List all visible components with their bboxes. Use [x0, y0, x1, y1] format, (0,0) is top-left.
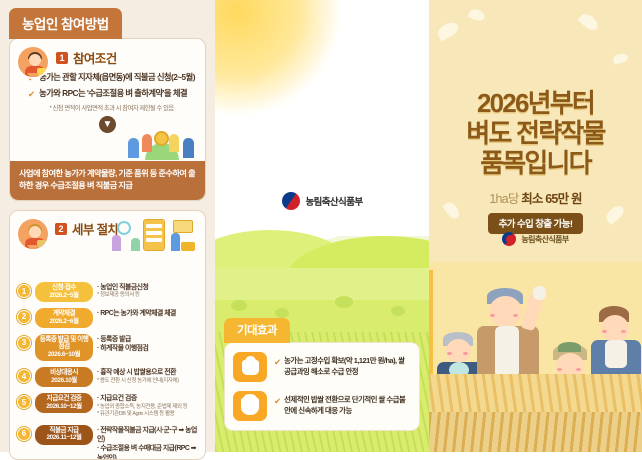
step-description: · 전략작물직불금 지급(시·군·구 ➡ 농업인)· 수급조절용 벼 수매대금 …	[97, 425, 198, 460]
rice-sack-icon	[233, 391, 267, 421]
bullet-text: 농가와 RPC는 '수급조절용 벼 출하계약'을 체결	[39, 88, 187, 99]
check-icon: ✔	[28, 89, 35, 100]
step-description-line: · 하계작물 이행점검	[97, 344, 198, 353]
procedure-step-list: 1신청·접수2026.2~5월· 농업인 직불금신청* 정보제공 동의서 등2계…	[17, 282, 198, 460]
money-bag-icon	[233, 352, 267, 382]
procedure-step-row: 2계약체결2026.2~6월· RPC는 농가와 계약체결 체결	[17, 308, 198, 328]
effect-text: 선제적인 밥쌀 전환으로 단기적인 쌀 수급불안에 신속하게 대응 가능	[284, 395, 411, 416]
farmer-figure-waving	[471, 282, 549, 380]
payment-note-banner: 사업에 참여한 농가가 계약물량, 기준 품위 등 준수하여 출하한 경우 수급…	[10, 161, 205, 200]
step-date: 2026.11~12월	[38, 434, 90, 441]
step-description: · RPC는 농가와 계약체결 체결	[97, 308, 198, 318]
wheat-foreground-2	[429, 412, 642, 452]
procedure-step-row: 6직불금 지급2026.11~12월· 전략작물직불금 지급(시·군·구 ➡ 농…	[17, 425, 198, 460]
step-number-badge: 5	[17, 395, 31, 409]
community-illustration	[123, 124, 201, 162]
procedure-step-row: 1신청·접수2026.2~5월· 농업인 직불금신청* 정보제공 동의서 등	[17, 282, 198, 302]
list-item: ✔ 농가는 관할 지자체(읍면동)에 직불금 신청(2~5월)	[28, 72, 195, 84]
field-dot	[391, 306, 405, 316]
procedure-step-row: 5지급요건 검증2026.10~12월· 지급요건 검증* 농업외 종합소득, …	[17, 393, 198, 418]
step-label-pill: 신청·접수2026.2~5월	[35, 282, 93, 302]
step-title: 비상대응시	[38, 369, 90, 377]
farmer-avatar-icon-2	[16, 217, 50, 251]
subline-mid: 당	[508, 192, 519, 206]
step-number-badge: 2	[17, 310, 31, 324]
field-dot	[275, 308, 289, 318]
step-label-pill: 계약체결2026.2~6월	[35, 308, 93, 328]
field-dot	[231, 300, 247, 311]
arrow-down-icon: ▼	[99, 116, 116, 133]
step-description-line: · 수급조절용 벼 수매대금 지급(RPC ➡ 농업인)	[97, 444, 198, 460]
headline-block: 2026년부터 벼도 전략작물 품목입니다 1ha당 최소 65만 원 추가 수…	[429, 88, 642, 234]
step-description-subnote: * 유관기관DB 및 Agrix 시스템 등 활용	[97, 411, 198, 419]
step-title: 등록증 발급 및 이행점검	[38, 336, 90, 351]
taegeuk-icon	[502, 232, 516, 246]
field-dot	[335, 296, 353, 308]
step-description: · 농업인 직불금신청* 정보제공 동의서 등	[97, 282, 198, 300]
headline-line-3: 품목입니다	[429, 148, 642, 178]
effects-tab-header: 기대효과	[224, 318, 290, 343]
step-description-line: · 지급요건 검증	[97, 394, 198, 403]
center-panel: 농림축산식품부 기대효과 ✔ 농가는 고정수입 확보(약 1,121만 원/ha…	[215, 0, 429, 452]
left-panel: 농업인 참여방법 1 참여조건 ✔ 농가는 관할 지자체(읍면동)에 직불금 신…	[0, 0, 215, 452]
step-date: 2026.2~6월	[38, 318, 90, 325]
procedure-step-row: 4비상대응시2026.10월· 흉작 예상 시 밥쌀용으로 전환* 용도 전환 …	[17, 367, 198, 387]
list-item: ✔ 선제적인 밥쌀 전환으로 단기적인 쌀 수급불안에 신속하게 대응 가능	[233, 391, 411, 421]
ministry-logo-center: 농림축산식품부	[215, 192, 429, 210]
headline-line-2: 벼도 전략작물	[429, 118, 642, 148]
step-description: · 등록증 발급· 하계작물 이행점검	[97, 334, 198, 354]
step-date: 2026.10~12월	[38, 403, 90, 410]
step-title: 신청·접수	[38, 284, 90, 292]
effect-text: 농가는 고정수입 확보(약 1,121만 원/ha), 쌀 공급과잉 해소로 수…	[284, 356, 411, 377]
brochure-root: 농업인 참여방법 1 참여조건 ✔ 농가는 관할 지자체(읍면동)에 직불금 신…	[0, 0, 642, 452]
step-number-badge: 3	[17, 336, 31, 350]
step-label-pill: 등록증 발급 및 이행점검2026.6~10월	[35, 334, 93, 362]
effects-card: ✔ 농가는 고정수입 확보(약 1,121만 원/ha), 쌀 공급과잉 해소로…	[224, 342, 420, 431]
step-label-pill: 직불금 지급2026.11~12월	[35, 425, 93, 445]
step-description: · 흉작 예상 시 밥쌀용으로 전환* 용도 전환 시 신청 농가에 안내(지자…	[97, 367, 198, 385]
subline-unit: 1ha	[489, 192, 507, 206]
step-date: 2026.6~10월	[38, 351, 90, 358]
step-description: · 지급요건 검증* 농업외 종합소득, 농지전용, 준법제 제외 등* 유관기…	[97, 393, 198, 418]
taegeuk-icon	[282, 192, 300, 210]
participation-conditions-card: 1 참여조건 ✔ 농가는 관할 지자체(읍면동)에 직불금 신청(2~5월) ✔…	[9, 38, 206, 201]
step-title: 지급요건 검증	[38, 395, 90, 403]
section1-footnote: * 신청 면적이 사업면적 초과 시 참여자 제한될 수 있음	[28, 103, 195, 112]
farmer-avatar-icon	[16, 45, 50, 79]
bullet-text: 농가는 관할 지자체(읍면동)에 직불금 신청(2~5월)	[39, 72, 195, 83]
right-panel: 2026년부터 벼도 전략작물 품목입니다 1ha당 최소 65만 원 추가 수…	[429, 0, 642, 452]
step-number-badge: 1	[17, 284, 31, 298]
check-icon: ✔	[274, 357, 281, 368]
subline: 1ha당 최소 65만 원	[429, 188, 642, 207]
list-item: ✔ 농가는 고정수입 확보(약 1,121만 원/ha), 쌀 공급과잉 해소로…	[233, 352, 411, 382]
step-date: 2026.10월	[38, 377, 90, 384]
ministry-name: 농림축산식품부	[521, 234, 568, 245]
step-description-line: · 등록증 발급	[97, 335, 198, 344]
step-description-line: · RPC는 농가와 계약체결 체결	[97, 309, 198, 318]
step-description-line: · 농업인 직불금신청	[97, 283, 198, 292]
section2-number-badge: 2	[55, 223, 67, 235]
step-label-pill: 지급요건 검증2026.10~12월	[35, 393, 93, 413]
step-date: 2026.2~5월	[38, 292, 90, 299]
ministry-name: 농림축산식품부	[306, 194, 363, 208]
step-description-subnote: * 정보제공 동의서 등	[97, 292, 198, 300]
headline-line-1: 2026년부터	[429, 88, 642, 118]
step-number-badge: 4	[17, 369, 31, 383]
procedure-step-row: 3등록증 발급 및 이행점검2026.6~10월· 등록증 발급· 하계작물 이…	[17, 334, 198, 362]
expected-effects-section: 기대효과 ✔ 농가는 고정수입 확보(약 1,121만 원/ha), 쌀 공급과…	[224, 318, 420, 431]
step-description-line: · 전략작물직불금 지급(시·군·구 ➡ 농업인)	[97, 426, 198, 445]
section1-title: 참여조건	[73, 48, 117, 67]
detailed-procedure-card: 2 세부 절차 1신청·접수2026.2~5월· 농업인 직불금신청* 정보제공…	[9, 210, 206, 460]
procedure-illustration	[111, 215, 199, 255]
left-panel-tab-header: 농업인 참여방법	[9, 8, 122, 39]
ministry-logo-right: 농림축산식품부	[429, 232, 642, 246]
step-description-line: · 흉작 예상 시 밥쌀용으로 전환	[97, 368, 198, 377]
step-title: 계약체결	[38, 310, 90, 318]
step-number-badge: 6	[17, 427, 31, 441]
step-description-subnote: * 용도 전환 시 신청 농가에 안내(지자체)	[97, 378, 198, 386]
subline-amount: 최소 65만 원	[521, 192, 581, 206]
step-label-pill: 비상대응시2026.10월	[35, 367, 93, 387]
list-item: ✔ 농가와 RPC는 '수급조절용 벼 출하계약'을 체결	[28, 88, 195, 100]
check-icon: ✔	[274, 396, 281, 407]
section1-number-badge: 1	[56, 52, 68, 64]
